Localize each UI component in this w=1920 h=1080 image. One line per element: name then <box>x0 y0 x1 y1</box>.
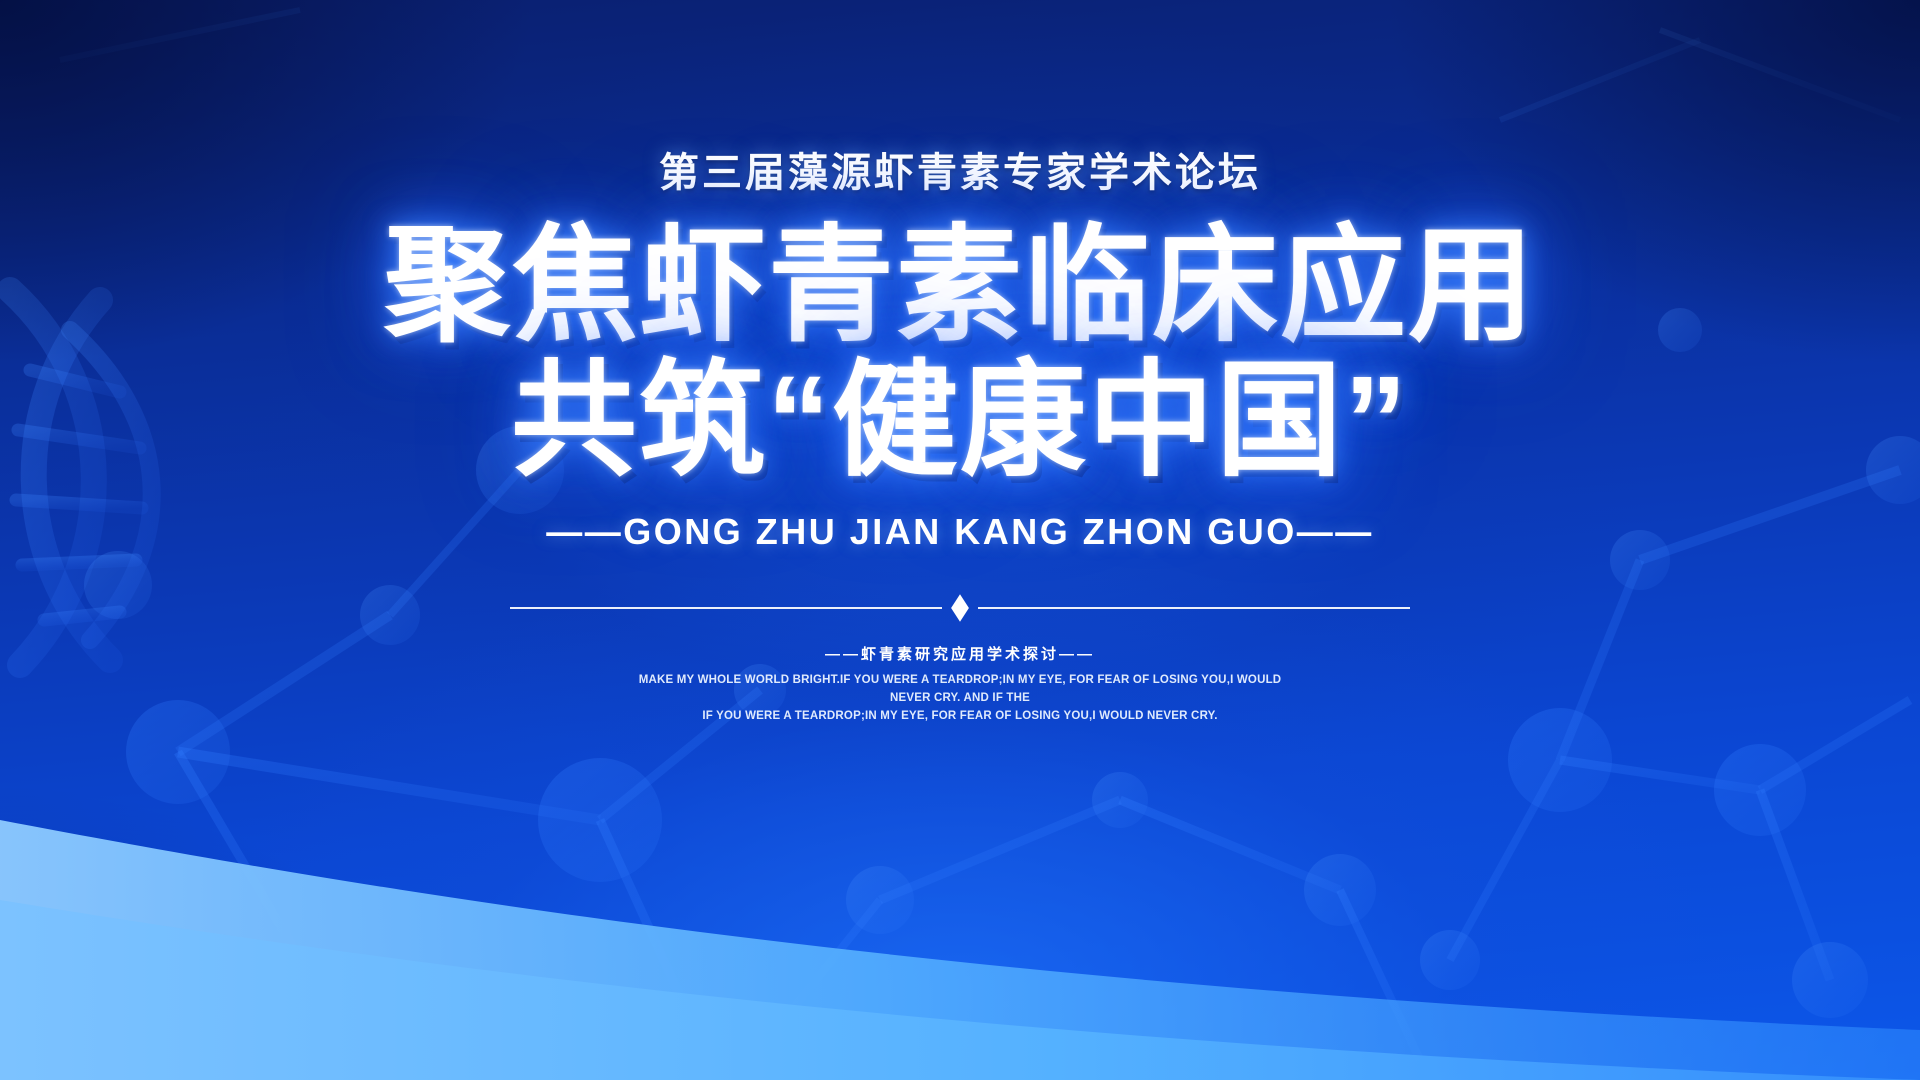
poster-content: 第三届藻源虾青素专家学术论坛 聚焦虾青素临床应用 共筑“健康中国” ——GONG… <box>0 0 1920 1080</box>
pinyin-subtitle: ——GONG ZHU JIAN KANG ZHON GUO—— <box>546 511 1374 553</box>
divider <box>510 595 1410 621</box>
page-title: 聚焦虾青素临床应用 共筑“健康中国” <box>384 222 1536 485</box>
poster-canvas: 第三届藻源虾青素专家学术论坛 聚焦虾青素临床应用 共筑“健康中国” ——GONG… <box>0 0 1920 1080</box>
headline-line-1: 聚焦虾青素临床应用 <box>384 222 1536 351</box>
fineprint-line-1: MAKE MY WHOLE WORLD BRIGHT.IF YOU WERE A… <box>620 672 1300 708</box>
fineprint-line-2: IF YOU WERE A TEARDROP;IN MY EYE, FOR FE… <box>620 708 1300 726</box>
fineprint-block: MAKE MY WHOLE WORLD BRIGHT.IF YOU WERE A… <box>620 672 1300 725</box>
diamond-icon <box>951 594 969 621</box>
headline-line-2: 共筑“健康中国” <box>384 357 1536 486</box>
divider-rule-right <box>978 607 1410 609</box>
forum-eyebrow-title: 第三届藻源虾青素专家学术论坛 <box>659 140 1261 198</box>
topic-subline: ——虾青素研究应用学术探讨—— <box>825 643 1095 664</box>
divider-rule-left <box>510 607 942 609</box>
